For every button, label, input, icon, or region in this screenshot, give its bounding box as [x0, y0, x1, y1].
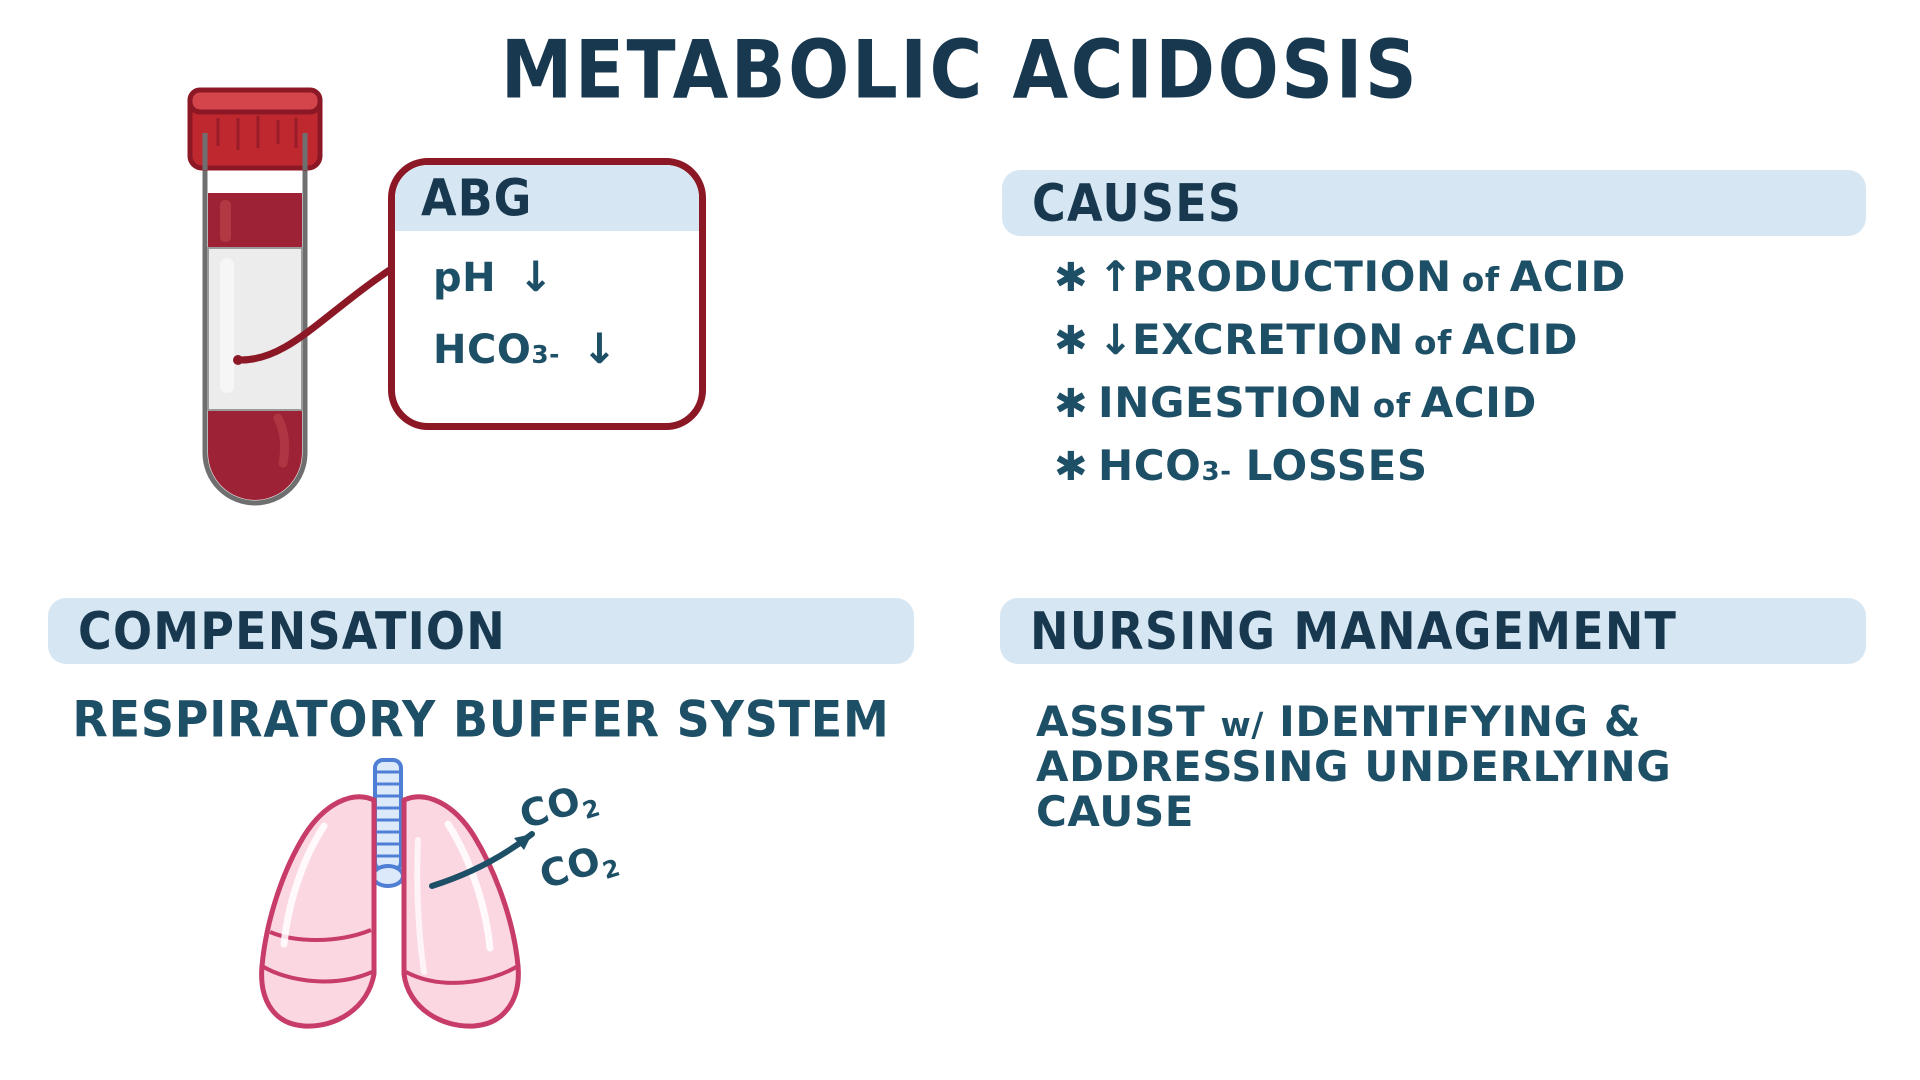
abg-hco3-subscript: 3: [531, 340, 549, 369]
nursing-management-body: ASSIST w/ IDENTIFYING & ADDRESSING UNDER…: [1036, 700, 1776, 835]
abg-card-title: ABG: [421, 168, 532, 227]
cause-text: EXCRETION: [1132, 319, 1404, 361]
section-header-compensation: COMPENSATION: [48, 598, 914, 664]
down-arrow-icon: ↓: [518, 256, 554, 298]
asterisk-bullet-icon: ✱: [1054, 321, 1098, 361]
cause-subscript: 3: [1201, 459, 1220, 485]
down-arrow-icon: ↓: [582, 328, 618, 370]
cause-text: INGESTION: [1098, 382, 1363, 424]
nursing-line1-part-b: IDENTIFYING &: [1279, 697, 1641, 746]
abg-row-hco3: HCO3- ↓: [395, 327, 699, 373]
down-arrow-icon: ↓: [1098, 319, 1132, 361]
cause-text: PRODUCTION: [1132, 256, 1452, 298]
abg-ph-label: pH: [433, 255, 496, 301]
asterisk-bullet-icon: ✱: [1054, 447, 1098, 487]
cause-connector: of: [1373, 390, 1411, 423]
cause-connector: of: [1462, 264, 1500, 297]
cause-tail: ACID: [1462, 319, 1578, 361]
causes-heading: CAUSES: [1032, 173, 1242, 233]
cause-connector: of: [1414, 327, 1452, 360]
nursing-line-1: ASSIST w/ IDENTIFYING &: [1036, 700, 1776, 745]
lungs-illustration: [232, 752, 562, 1042]
compensation-heading: COMPENSATION: [78, 601, 506, 661]
list-item: ✱ INGESTION of ACID: [1054, 382, 1874, 424]
asterisk-bullet-icon: ✱: [1054, 384, 1098, 424]
blood-collection-tube: [150, 78, 360, 538]
nursing-line1-part-a: ASSIST: [1036, 697, 1205, 746]
cause-tail: ACID: [1510, 256, 1626, 298]
up-arrow-icon: ↑: [1098, 256, 1132, 298]
cause-text: HCO: [1098, 445, 1201, 487]
list-item: ✱ ↓ EXCRETION of ACID: [1054, 319, 1874, 361]
abg-hco3-superscript: -: [549, 340, 560, 369]
cause-tail: ACID: [1421, 382, 1537, 424]
abg-hco3-label: HCO: [433, 327, 531, 373]
nursing-line1-with: w/: [1220, 706, 1263, 744]
list-item: ✱ HCO3- LOSSES: [1054, 445, 1874, 487]
abg-card: ABG pH ↓ HCO3- ↓: [388, 158, 706, 430]
section-header-nursing-management: NURSING MANAGEMENT: [1000, 598, 1866, 664]
cause-tail: LOSSES: [1246, 445, 1428, 487]
compensation-subtitle: RESPIRATORY BUFFER SYSTEM: [48, 690, 914, 748]
nursing-line-2: ADDRESSING UNDERLYING: [1036, 745, 1776, 790]
cause-superscript: -: [1220, 459, 1231, 485]
section-header-causes: CAUSES: [1002, 170, 1866, 236]
nursing-heading: NURSING MANAGEMENT: [1030, 601, 1677, 661]
abg-card-header: ABG: [395, 165, 699, 231]
causes-list: ✱ ↑ PRODUCTION of ACID ✱ ↓ EXCRETION of …: [1054, 256, 1874, 508]
nursing-line-3: CAUSE: [1036, 790, 1776, 835]
asterisk-bullet-icon: ✱: [1054, 258, 1098, 298]
list-item: ✱ ↑ PRODUCTION of ACID: [1054, 256, 1874, 298]
abg-row-ph: pH ↓: [395, 255, 699, 301]
